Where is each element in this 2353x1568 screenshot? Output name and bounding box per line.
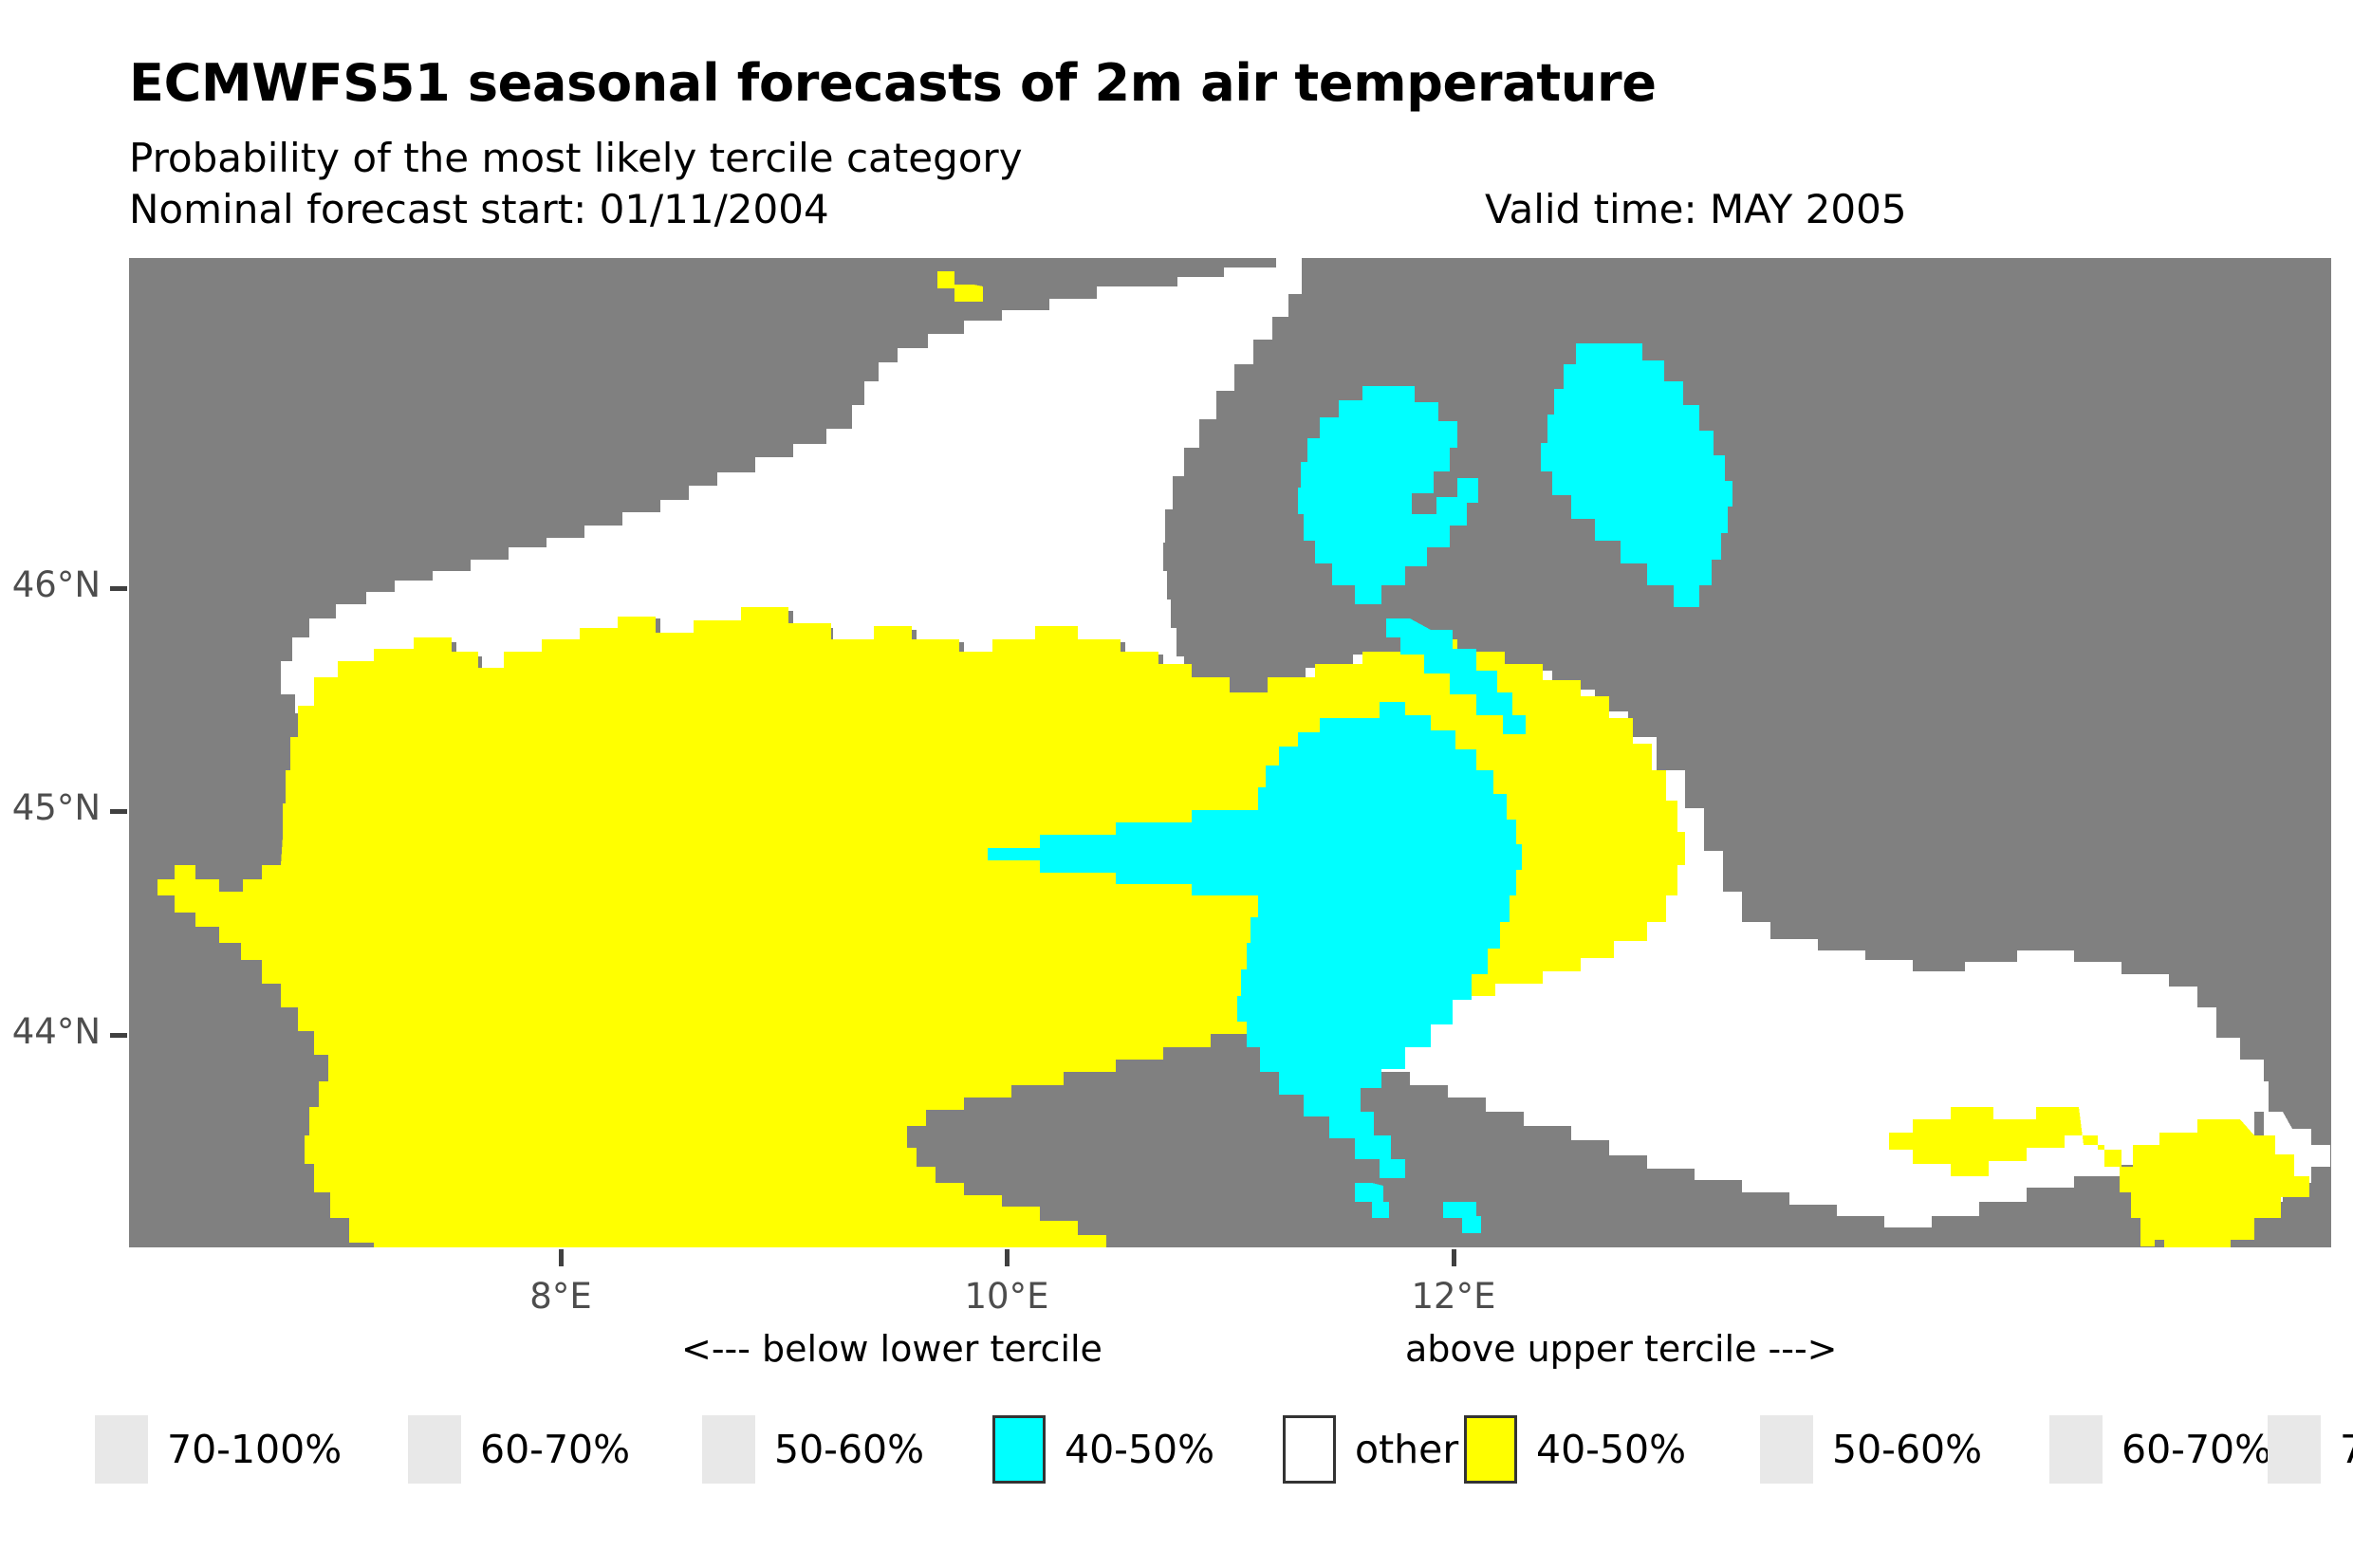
legend-label: 60-70% (480, 1427, 630, 1472)
legend-swatch (1283, 1415, 1336, 1484)
x-tick-mark (1005, 1249, 1010, 1266)
legend-label: other (1355, 1427, 1458, 1472)
legend-label: 70-100% (2340, 1427, 2353, 1472)
y-tick-mark (110, 809, 127, 814)
legend-below-heading: <--- below lower tercile (681, 1328, 1102, 1370)
legend-swatch (408, 1415, 461, 1484)
legend-item[interactable]: 60-70% (2049, 1411, 2271, 1487)
map-region (1355, 1183, 1389, 1218)
x-tick-label: 8°E (418, 1276, 703, 1317)
page-title: ECMWFS51 seasonal forecasts of 2m air te… (129, 53, 1657, 113)
forecast-map (129, 258, 2331, 1247)
y-tick-mark (110, 586, 127, 591)
legend-swatch (1760, 1415, 1813, 1484)
legend-item[interactable]: 70-100% (95, 1411, 342, 1487)
map-region (1298, 386, 1478, 604)
y-tick-label: 44°N (0, 1011, 101, 1052)
header: ECMWFS51 seasonal forecasts of 2m air te… (0, 0, 2353, 258)
legend-label: 60-70% (2121, 1427, 2271, 1472)
y-tick-label: 45°N (0, 787, 101, 828)
subtitle: Probability of the most likely tercile c… (129, 135, 1023, 181)
map-region (1443, 1202, 1481, 1233)
legend-swatch (2268, 1415, 2321, 1484)
map-plot-area (129, 258, 2331, 1247)
x-tick-label: 10°E (864, 1276, 1149, 1317)
x-tick-label: 12°E (1311, 1276, 1596, 1317)
legend-label: 50-60% (1832, 1427, 1982, 1472)
legend-swatch (2049, 1415, 2103, 1484)
map-region (937, 271, 983, 302)
legend-item[interactable]: 70-100% (2268, 1411, 2353, 1487)
legend-item[interactable]: 60-70% (408, 1411, 630, 1487)
map-region (1541, 343, 1732, 607)
legend-item[interactable]: 50-60% (1760, 1411, 1982, 1487)
legend-item[interactable]: other (1283, 1411, 1458, 1487)
x-tick-mark (559, 1249, 564, 1266)
legend-entries: 70-100%60-70%50-60%40-50%other40-50%50-6… (0, 1411, 2353, 1487)
legend-above-heading: above upper tercile ---> (1405, 1328, 1838, 1370)
legend-swatch (702, 1415, 755, 1484)
legend-label: 70-100% (167, 1427, 342, 1472)
legend-swatch (95, 1415, 148, 1484)
legend-label: 40-50% (1536, 1427, 1686, 1472)
legend-item[interactable]: 40-50% (992, 1411, 1214, 1487)
valid-time-label: Valid time: MAY 2005 (1485, 186, 1907, 232)
legend: <--- below lower tercile above upper ter… (0, 1328, 2353, 1568)
legend-swatch (992, 1415, 1046, 1484)
y-tick-mark (110, 1033, 127, 1038)
legend-label: 40-50% (1065, 1427, 1214, 1472)
y-tick-label: 46°N (0, 564, 101, 605)
legend-item[interactable]: 50-60% (702, 1411, 924, 1487)
legend-label: 50-60% (774, 1427, 924, 1472)
legend-item[interactable]: 40-50% (1464, 1411, 1686, 1487)
x-tick-mark (1452, 1249, 1456, 1266)
legend-swatch (1464, 1415, 1517, 1484)
forecast-start-label: Nominal forecast start: 01/11/2004 (129, 186, 829, 232)
